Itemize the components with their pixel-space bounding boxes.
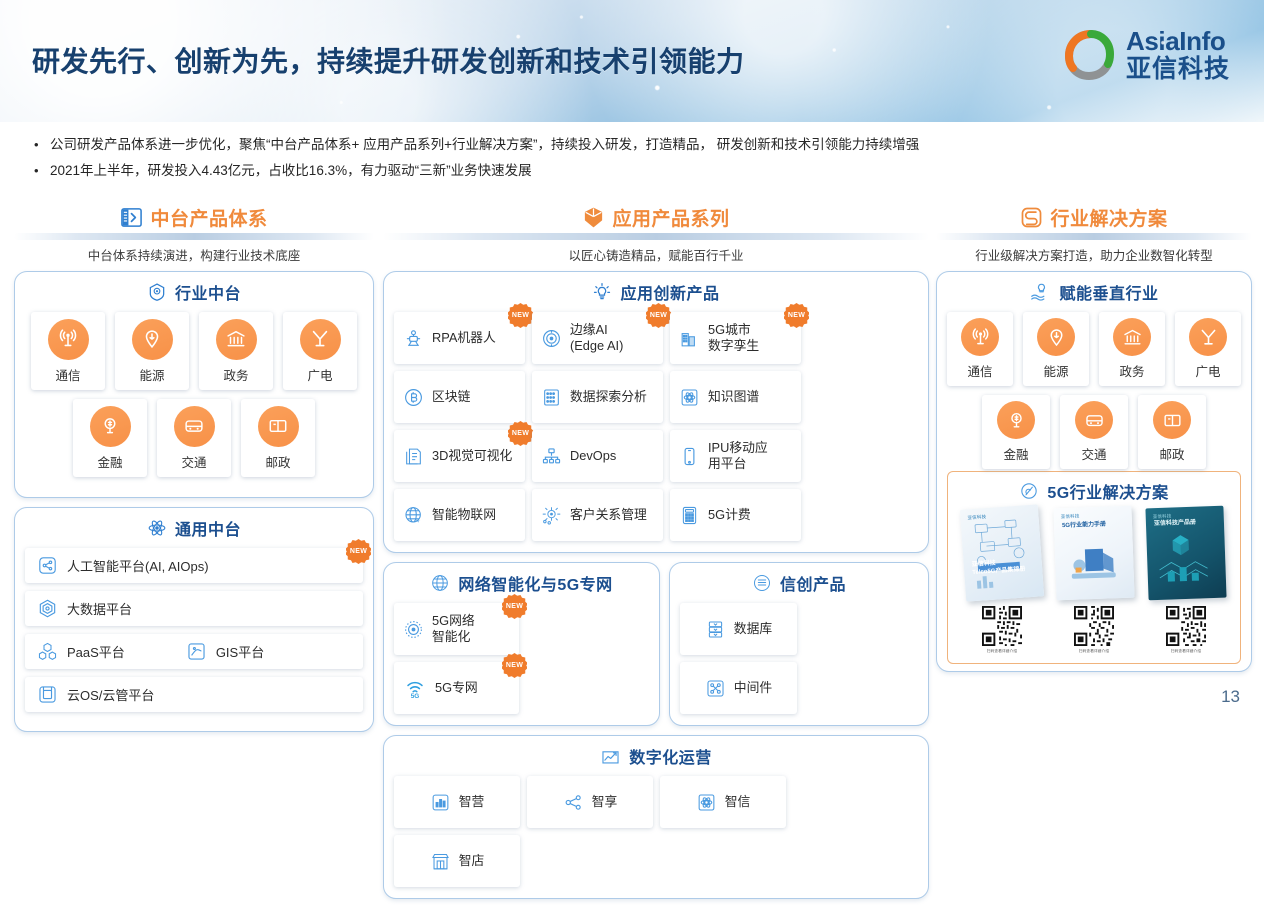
billing-icon: [679, 505, 700, 526]
asiainfo-logo: AsiaInfo 亚信科技: [1065, 28, 1230, 82]
qr-code-row: 扫码查看详细介绍: [956, 606, 1232, 654]
middleware-icon: [705, 678, 726, 699]
platform-row-secondary-label: GIS平台: [216, 642, 264, 661]
product-label: IPU移动应 用平台: [708, 440, 768, 473]
location-pin-icon: [132, 319, 173, 360]
blockchain-icon: [403, 387, 424, 408]
industry-label: 交通: [181, 452, 206, 471]
coin-icon: [90, 406, 131, 447]
product-label: DevOps: [570, 448, 616, 464]
column-header: 应用产品系列: [383, 202, 929, 232]
message-icon: [696, 792, 717, 813]
panel-title-text: 通用中台: [175, 516, 241, 540]
column-subtitle: 行业级解决方案打造，助力企业数智化转型: [936, 240, 1252, 271]
product-label: 数据探索分析: [570, 389, 647, 405]
product-card-zhidian[interactable]: 智店: [394, 835, 520, 887]
panel-title-text: 赋能垂直行业: [1059, 280, 1158, 304]
column-industry-solutions: 行业解决方案 行业级解决方案打造，助力企业数智化转型 赋能垂直行业: [936, 202, 1252, 681]
edge-ai-icon: [541, 328, 562, 349]
panel-network-5g: 网络智能化与5G专网 5G网络 智能化 NEW: [383, 562, 660, 726]
product-grid: 5G网络 智能化 NEW 5G 5G专网 NEW: [394, 603, 649, 714]
bullet-item: • 2021年上半年，研发投入4.43亿元，占收比16.3%，有力驱动“三新”业…: [0, 158, 1264, 184]
product-label: 智享: [592, 794, 618, 810]
city-icon: [679, 328, 700, 349]
platform-row-label: 云OS/云管平台: [67, 685, 154, 704]
industry-label: 邮政: [265, 452, 290, 471]
industry-row: 金融 交通: [947, 395, 1241, 469]
product-label: 边缘AI (Edge AI): [570, 322, 623, 355]
product-label: 3D视觉可视化: [432, 448, 512, 464]
panel-digital-ops: 数字化运营 智营 智享: [383, 735, 929, 899]
mailbox-icon: [258, 406, 299, 447]
industry-tile-energy[interactable]: 能源: [1023, 312, 1089, 386]
panel-header: 网络智能化与5G专网: [394, 571, 649, 595]
shield-hex-icon: [147, 282, 167, 302]
devops-icon: [541, 446, 562, 467]
industry-label: 金融: [1003, 444, 1028, 463]
qr-cell: 扫码查看详细介绍: [1074, 606, 1114, 654]
industry-row: 通信 能源 政务: [947, 312, 1241, 386]
product-card-edge-ai[interactable]: 边缘AI (Edge AI) NEW: [532, 312, 663, 364]
industry-tile-broadcast[interactable]: 广电: [283, 312, 357, 390]
panel-5g-solution: 5G行业解决方案 亚信科技: [947, 471, 1241, 664]
paas-icon: [37, 641, 58, 662]
industry-label: 通信: [55, 365, 80, 384]
industry-label: 广电: [1195, 361, 1220, 380]
new-badge: NEW: [508, 421, 533, 446]
panel-title-text: 行业中台: [175, 280, 241, 304]
product-label: 5G专网: [435, 680, 478, 696]
new-badge: NEW: [502, 653, 527, 678]
bulb-icon: [592, 282, 612, 302]
industry-tile-transport[interactable]: 交通: [157, 399, 231, 477]
panel-header: 信创产品: [680, 571, 918, 595]
antenna-icon: [961, 318, 999, 356]
page-title: 研发先行、创新为先，持续提升研发创新和技术引领能力: [32, 40, 745, 80]
product-label: 数据库: [734, 621, 772, 637]
logo-text-en: AsiaInfo: [1126, 28, 1230, 54]
page-number: 13: [1221, 687, 1240, 707]
industry-label: 政务: [1119, 361, 1144, 380]
column-header: 行业解决方案: [936, 202, 1252, 232]
platform-row-label: 大数据平台: [67, 599, 132, 618]
panel-title-text: 5G行业解决方案: [1047, 479, 1168, 503]
broadcast-icon: [300, 319, 341, 360]
globe-net-icon: [430, 573, 450, 593]
atom-icon: [147, 518, 167, 538]
product-label: 知识图谱: [708, 389, 759, 405]
product-card-blockchain[interactable]: 区块链: [394, 371, 525, 423]
product-card-5g-billing[interactable]: 5G计费: [670, 489, 801, 541]
bank-icon: [216, 319, 257, 360]
qr-cell: 扫码查看详细介绍: [1166, 606, 1206, 654]
qr-caption: 扫码查看详细介绍: [1079, 649, 1109, 654]
broadcast-icon: [1189, 318, 1227, 356]
platform-row-secondary[interactable]: GIS平台: [186, 641, 264, 662]
solution-icon: [1020, 206, 1043, 229]
bullet-list: • 公司研发产品体系进一步优化，聚焦“中台产品体系+ 应用产品系列+行业解决方案…: [0, 132, 1264, 185]
panel-header: 数字化运营: [394, 744, 918, 768]
panel-xinchuang: 信创产品 数据库: [669, 562, 929, 726]
ai-share-icon: [37, 555, 58, 576]
product-grid: RPA机器人 NEW 边缘AI (Edge AI) NEW: [394, 312, 918, 541]
product-card-zhixiang[interactable]: 智享: [527, 776, 653, 828]
industry-row: 通信 能源 政务: [25, 312, 363, 390]
platform-icon: [120, 206, 143, 229]
column-title: 中台产品体系: [150, 204, 267, 231]
industry-tile-finance[interactable]: 金融: [73, 399, 147, 477]
5g-solution-icon: [1019, 481, 1039, 501]
mailbox-icon: [1153, 401, 1191, 439]
column-divider: [936, 233, 1252, 240]
column-title: 行业解决方案: [1050, 204, 1167, 231]
qr-code-icon: [1166, 606, 1206, 646]
industry-label: 通信: [967, 361, 992, 380]
share-node-icon: [563, 792, 584, 813]
product-card-middleware[interactable]: 中间件: [680, 662, 797, 714]
product-card-3d-view[interactable]: 3D视觉可视化 NEW: [394, 430, 525, 482]
product-card-5g-network-intel[interactable]: 5G网络 智能化 NEW: [394, 603, 519, 655]
panel-title-text: 数字化运营: [629, 744, 712, 768]
qr-code-icon: [982, 606, 1022, 646]
column-header: 中台产品体系: [14, 202, 374, 232]
platform-row-cloudos[interactable]: 云OS/云管平台: [25, 677, 363, 712]
brochure-item: 亚信科技 5G行业能力手册: [1053, 506, 1134, 601]
product-label: 区块链: [432, 389, 470, 405]
qr-code-icon: [1074, 606, 1114, 646]
new-badge: NEW: [784, 303, 809, 328]
product-card-rpa[interactable]: RPA机器人 NEW: [394, 312, 525, 364]
product-label: 智能物联网: [432, 507, 496, 523]
robot-icon: [403, 328, 424, 349]
product-card-5g-city[interactable]: 5G城市 数字孪生 NEW: [670, 312, 801, 364]
bank-icon: [1113, 318, 1151, 356]
brochure-item: 亚信科技 亚信科技 Telco5G产品集锦册: [960, 504, 1044, 601]
product-card-5g-private[interactable]: 5G 5G专网 NEW: [394, 662, 519, 714]
new-badge: NEW: [646, 303, 671, 328]
product-label: 智店: [459, 853, 485, 869]
bar-chart-icon: [430, 792, 451, 813]
product-card-devops[interactable]: DevOps: [532, 430, 663, 482]
product-label: 5G计费: [708, 507, 751, 523]
panel-header: 5G行业解决方案: [956, 479, 1232, 503]
panel-header: 应用创新产品: [394, 280, 918, 304]
brochure-item: 亚信科技 亚信科技产品册: [1145, 506, 1226, 601]
column-middle-platform: 中台产品体系 中台体系持续演进，构建行业技术底座 行业中台: [14, 202, 374, 741]
product-grid: 智营 智享: [394, 776, 918, 887]
coin-icon: [997, 401, 1035, 439]
new-badge: NEW: [502, 594, 527, 619]
car-icon: [174, 406, 215, 447]
cloud-os-icon: [37, 684, 58, 705]
panel-header: 行业中台: [25, 280, 363, 304]
doc-stack-icon: [752, 573, 772, 593]
industry-label: 能源: [1043, 361, 1068, 380]
bullet-text: 公司研发产品体系进一步优化，聚焦“中台产品体系+ 应用产品系列+行业解决方案”，…: [50, 135, 1264, 155]
platform-row-ai[interactable]: 人工智能平台(AI, AIOps) NEW: [25, 548, 363, 583]
product-label: 5G网络 智能化: [432, 613, 475, 646]
slide-header: 研发先行、创新为先，持续提升研发创新和技术引领能力 AsiaInfo 亚信科技: [0, 0, 1264, 122]
brochure-art-icon: [1145, 506, 1226, 601]
platform-row-label: 人工智能平台(AI, AIOps): [67, 556, 209, 575]
industry-tile-energy[interactable]: 能源: [115, 312, 189, 390]
column-subtitle: 中台体系持续演进，构建行业技术底座: [14, 240, 374, 271]
product-card-knowledge-graph[interactable]: 知识图谱: [670, 371, 801, 423]
wifi-5g-icon: 5G: [403, 677, 427, 699]
column-application-products: 应用产品系列 以匠心铸造精品，赋能百行千业 应用创新产品: [383, 202, 929, 908]
logo-text-cn: 亚信科技: [1126, 57, 1230, 82]
column-divider: [383, 233, 929, 240]
product-card-ipu-mobile[interactable]: IPU移动应 用平台: [670, 430, 801, 482]
product-label: 智营: [459, 794, 485, 810]
bullet-marker: •: [34, 161, 50, 181]
platform-row-label: PaaS平台: [67, 642, 125, 661]
product-label: RPA机器人: [432, 330, 496, 346]
product-grid: 数据库 中间件: [680, 603, 918, 714]
gis-icon: [186, 641, 207, 662]
bullet-text: 2021年上半年，研发投入4.43亿元，占收比16.3%，有力驱动“三新”业务快…: [50, 161, 1264, 181]
product-card-crm[interactable]: 客户关系管理: [532, 489, 663, 541]
industry-label: 政务: [223, 365, 248, 384]
panel-app-innovation: 应用创新产品 RPA机器人 NEW: [383, 271, 929, 553]
network-ring-icon: [403, 619, 424, 640]
brochure-images: 亚信科技 亚信科技 Telco5G产品集锦册: [956, 507, 1232, 599]
product-card-iot[interactable]: 智能物联网: [394, 489, 525, 541]
column-subtitle: 以匠心铸造精品，赋能百行千业: [383, 240, 929, 271]
industry-tile-transport[interactable]: 交通: [1060, 395, 1128, 469]
product-card-data-explore[interactable]: 数据探索分析: [532, 371, 663, 423]
bullet-item: • 公司研发产品体系进一步优化，聚焦“中台产品体系+ 应用产品系列+行业解决方案…: [0, 132, 1264, 158]
industry-row: 金融 交通: [25, 399, 363, 477]
qr-cell: 扫码查看详细介绍: [982, 606, 1022, 654]
knowledge-graph-icon: [679, 387, 700, 408]
panel-title-text: 应用创新产品: [620, 280, 719, 304]
iot-globe-icon: [403, 505, 424, 526]
industry-label: 金融: [97, 452, 122, 471]
panel-empower-vertical: 赋能垂直行业 通信: [936, 271, 1252, 672]
column-title: 应用产品系列: [612, 204, 729, 231]
brochure-art-icon: [1053, 506, 1134, 601]
panel-title-text: 网络智能化与5G专网: [458, 571, 612, 595]
panel-title-text: 信创产品: [780, 571, 846, 595]
qr-caption: 扫码查看详细介绍: [987, 649, 1017, 654]
industry-label: 交通: [1081, 444, 1106, 463]
brochure-art-icon: [960, 504, 1044, 601]
store-icon: [430, 851, 451, 872]
svg-text:5G: 5G: [411, 693, 420, 699]
car-icon: [1075, 401, 1113, 439]
bigdata-icon: [37, 598, 58, 619]
database-icon: [705, 619, 726, 640]
location-pin-icon: [1037, 318, 1075, 356]
industry-label: 广电: [307, 365, 332, 384]
bullet-marker: •: [34, 135, 50, 155]
industry-tile-post[interactable]: 邮政: [1138, 395, 1206, 469]
3d-view-icon: [403, 446, 424, 467]
industry-tile-telecom[interactable]: 通信: [947, 312, 1013, 386]
panel-pair: 网络智能化与5G专网 5G网络 智能化 NEW: [383, 562, 929, 735]
product-label: 客户关系管理: [570, 507, 647, 523]
column-divider: [14, 233, 374, 240]
panel-general-platform: 通用中台 人工智能平台(AI, AIOps) NEW 大数据: [14, 507, 374, 732]
crm-icon: [541, 505, 562, 526]
panel-header: 通用中台: [25, 516, 363, 540]
panel-header: 赋能垂直行业: [947, 280, 1241, 304]
industry-tile-government[interactable]: 政务: [199, 312, 273, 390]
platform-row-bigdata[interactable]: 大数据平台: [25, 591, 363, 626]
antenna-icon: [48, 319, 89, 360]
product-label: 智信: [725, 794, 751, 810]
product-card-database[interactable]: 数据库: [680, 603, 797, 655]
new-badge: NEW: [346, 539, 371, 564]
data-explore-icon: [541, 387, 562, 408]
asiainfo-mark-icon: [1065, 30, 1117, 80]
product-card-zhixin[interactable]: 智信: [660, 776, 786, 828]
industry-tile-finance[interactable]: 金融: [982, 395, 1050, 469]
product-card-zhiying[interactable]: 智营: [394, 776, 520, 828]
chart-up-icon: [600, 746, 621, 767]
panel-industry-platform: 行业中台 通信: [14, 271, 374, 498]
product-label: 5G城市 数字孪生: [708, 322, 759, 355]
industry-label: 能源: [139, 365, 164, 384]
new-badge: NEW: [508, 303, 533, 328]
industry-label: 邮政: [1159, 444, 1184, 463]
industry-tile-government[interactable]: 政务: [1099, 312, 1165, 386]
cube-icon: [582, 206, 605, 229]
mobile-icon: [679, 446, 700, 467]
product-label: 中间件: [734, 680, 772, 696]
industry-tile-post[interactable]: 邮政: [241, 399, 315, 477]
industry-tile-broadcast[interactable]: 广电: [1175, 312, 1241, 386]
empower-icon: [1029, 281, 1051, 303]
platform-row-paas-gis[interactable]: PaaS平台 GIS平台: [25, 634, 363, 669]
qr-caption: 扫码查看详细介绍: [1171, 649, 1201, 654]
industry-tile-telecom[interactable]: 通信: [31, 312, 105, 390]
